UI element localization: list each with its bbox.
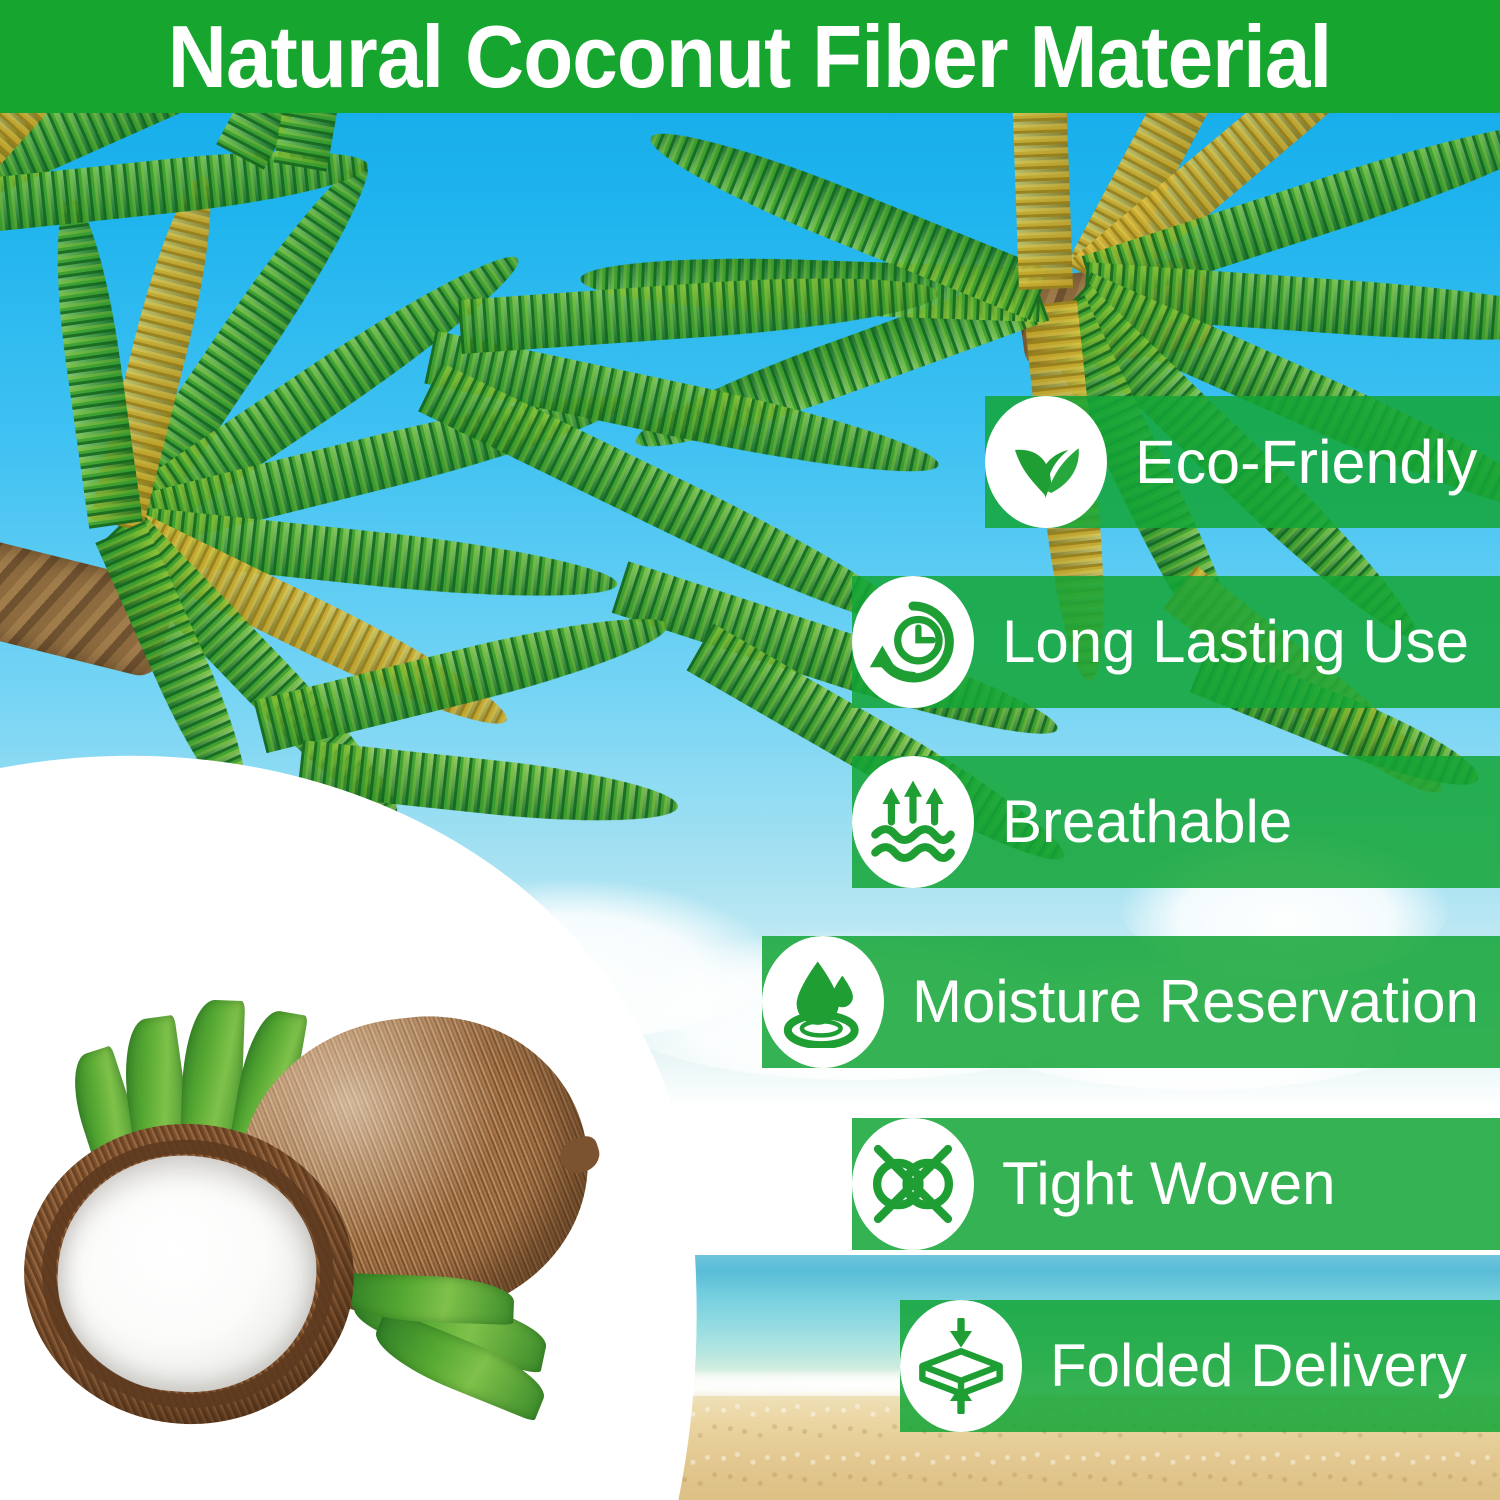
feature-bar-tight-woven[interactable]: Tight Woven <box>852 1118 1500 1250</box>
page-title: Natural Coconut Fiber Material <box>168 13 1332 101</box>
feature-bar-eco-friendly[interactable]: Eco-Friendly <box>985 396 1500 528</box>
feature-bar-long-lasting-use[interactable]: Long Lasting Use <box>852 576 1500 708</box>
feature-bar-folded-delivery[interactable]: Folded Delivery <box>900 1300 1500 1432</box>
feature-bar-moisture-reservation[interactable]: Moisture Reservation <box>762 936 1500 1068</box>
compressed-stack-icon <box>900 1300 1022 1432</box>
clock-cycle-icon <box>852 576 974 708</box>
coconut-husk-rim <box>33 1130 343 1418</box>
water-drop-basin-icon <box>762 936 884 1068</box>
leaves-icon <box>985 396 1107 528</box>
feature-bar-breathable[interactable]: Breathable <box>852 756 1500 888</box>
header-banner: Natural Coconut Fiber Material <box>0 0 1500 113</box>
airflow-arrows-waves-icon <box>852 756 974 888</box>
woven-knot-icon <box>852 1118 974 1250</box>
product-infographic: Natural Coconut Fiber Material Eco-Frien… <box>0 0 1500 1500</box>
